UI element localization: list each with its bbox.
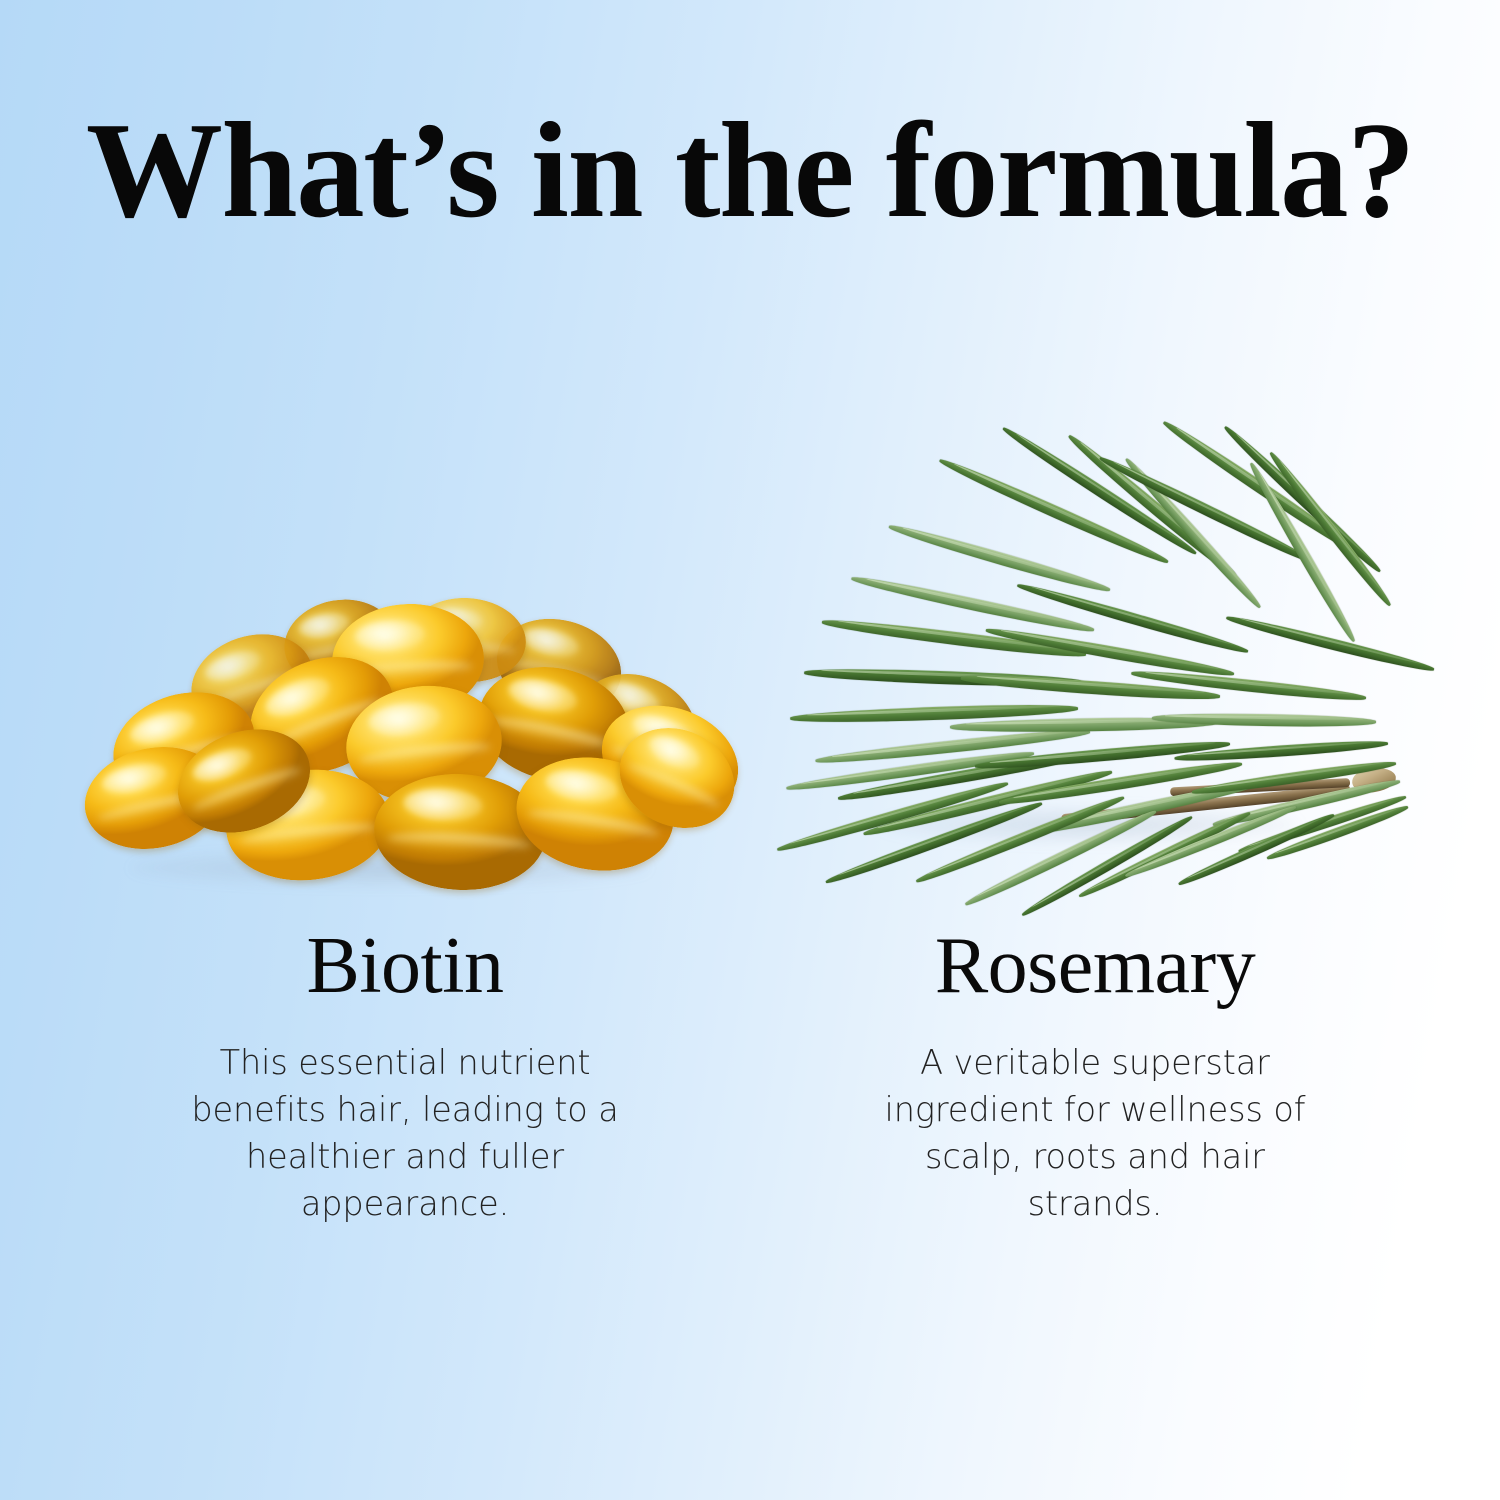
rosemary-image (750, 520, 1440, 890)
biotin-softgel-capsules-photo (78, 598, 728, 888)
formula-ingredients-panel: What’s in the formula? (0, 0, 1500, 1500)
description-line: scalp, roots and hair (925, 1137, 1265, 1176)
description-line: healthier and fuller (246, 1137, 564, 1176)
description-line: ingredient for wellness of (885, 1090, 1306, 1129)
biotin-image (60, 520, 750, 890)
ingredient-name-biotin: Biotin (60, 926, 750, 1006)
ingredient-description-rosemary: A veritable superstar ingredient for wel… (845, 1040, 1345, 1228)
description-line: This essential nutrient (220, 1043, 591, 1082)
ingredient-description-biotin: This essential nutrient benefits hair, l… (170, 1040, 640, 1228)
description-line: appearance. (301, 1184, 509, 1223)
ingredient-card-rosemary: Rosemary A veritable superstar ingredien… (750, 520, 1440, 1228)
page-title: What’s in the formula? (0, 102, 1500, 239)
description-line: A veritable superstar (920, 1043, 1270, 1082)
rosemary-sprig-photo (760, 540, 1440, 890)
description-line: benefits hair, leading to a (191, 1090, 618, 1129)
description-line: strands. (1028, 1184, 1163, 1223)
ingredient-card-biotin: Biotin This essential nutrient benefits … (60, 520, 750, 1228)
ingredient-name-rosemary: Rosemary (750, 926, 1440, 1006)
